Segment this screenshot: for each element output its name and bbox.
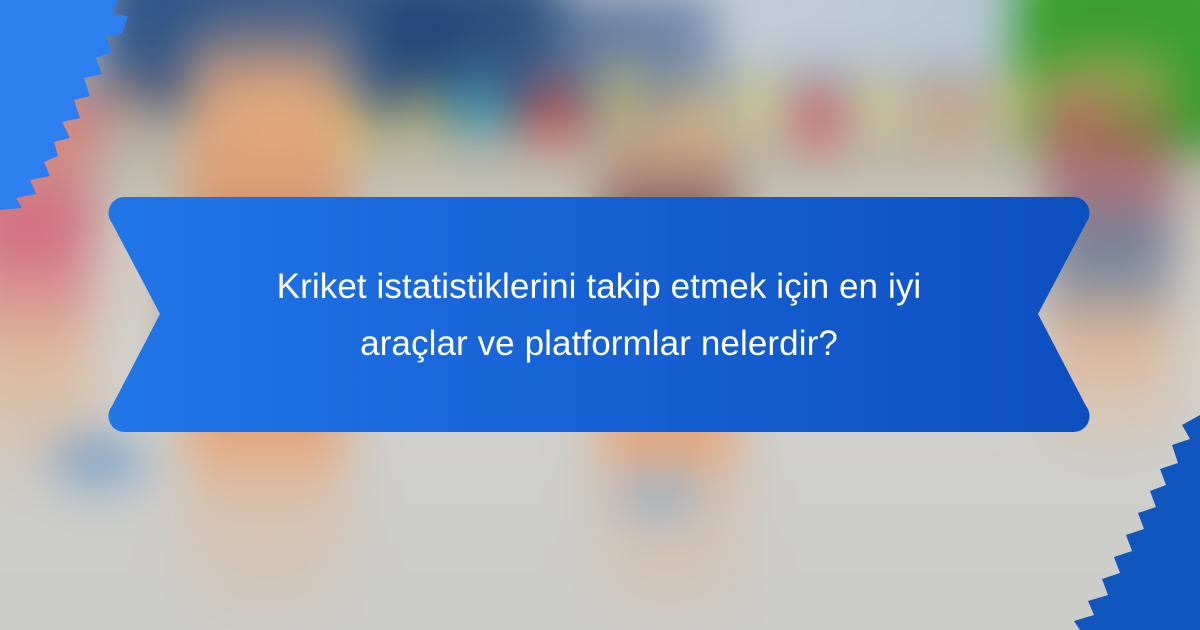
headline-line-2: araçlar ve platformlar nelerdir? — [360, 315, 838, 372]
headline-text: Kriket istatistiklerini takip etmek için… — [248, 197, 950, 432]
headline-line-1: Kriket istatistiklerini takip etmek için… — [277, 258, 922, 315]
social-card: Kriket istatistiklerini takip etmek için… — [0, 0, 1200, 630]
headline-ribbon: Kriket istatistiklerini takip etmek için… — [108, 197, 1090, 432]
photo-road-surface — [0, 437, 1200, 630]
